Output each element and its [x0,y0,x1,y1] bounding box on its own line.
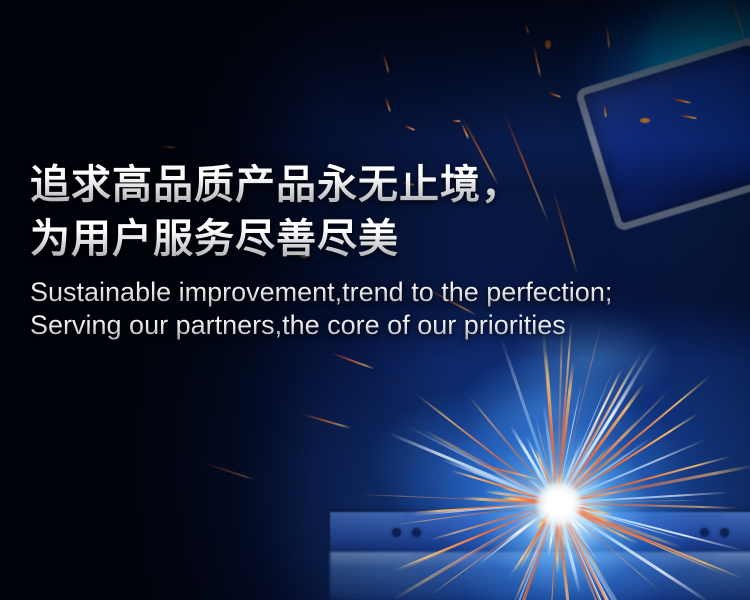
welding-arc-core [537,482,581,526]
subheadline-en-line-1: Sustainable improvement,trend to the per… [30,276,720,309]
hero-banner: 追求高品质产品永无止境， 为用户服务尽善尽美 Sustainable impro… [0,0,750,600]
spark [532,44,541,78]
headline-cn-line-1: 追求高品质产品永无止境， [30,158,720,212]
spark [382,52,390,74]
spark-blob [640,118,650,123]
spark [524,24,529,34]
banner-copy: 追求高品质产品永无止境， 为用户服务尽善尽美 Sustainable impro… [30,158,720,342]
bolt-hole [392,528,401,537]
spark [201,461,255,480]
subheadline-en-line-2: Serving our partners,the core of our pri… [30,309,720,342]
spark [404,125,416,132]
subheadline-en: Sustainable improvement,trend to the per… [30,276,720,342]
spark [160,145,176,148]
headline-cn-line-2: 为用户服务尽善尽美 [30,212,720,266]
spark [385,97,392,113]
spark [452,120,461,123]
spark-blob [545,40,551,49]
